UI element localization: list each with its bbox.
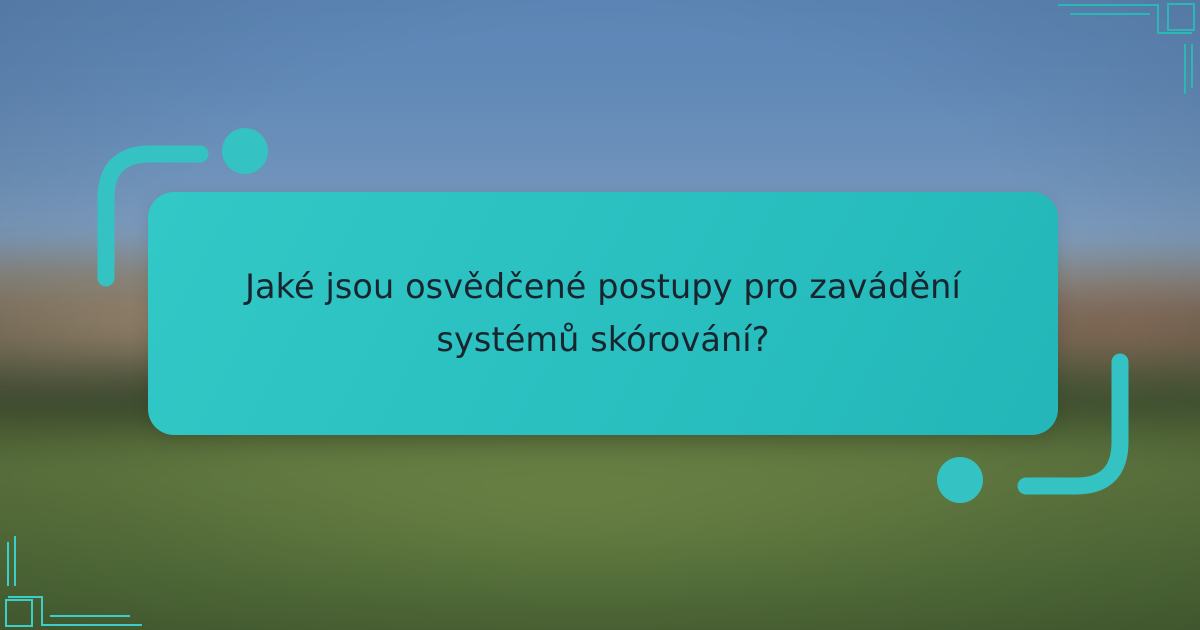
corner-bracket-top-right [1040,0,1200,100]
question-card-canvas: Jaké jsou osvědčené postupy pro zavádění… [0,0,1200,630]
accent-dot-bottom-right [937,457,983,503]
question-text: Jaké jsou osvědčené postupy pro zavádění… [223,261,983,367]
corner-bracket-bottom-left [0,530,160,630]
accent-dot-top-left [222,128,268,174]
question-bubble: Jaké jsou osvědčené postupy pro zavádění… [148,192,1058,435]
